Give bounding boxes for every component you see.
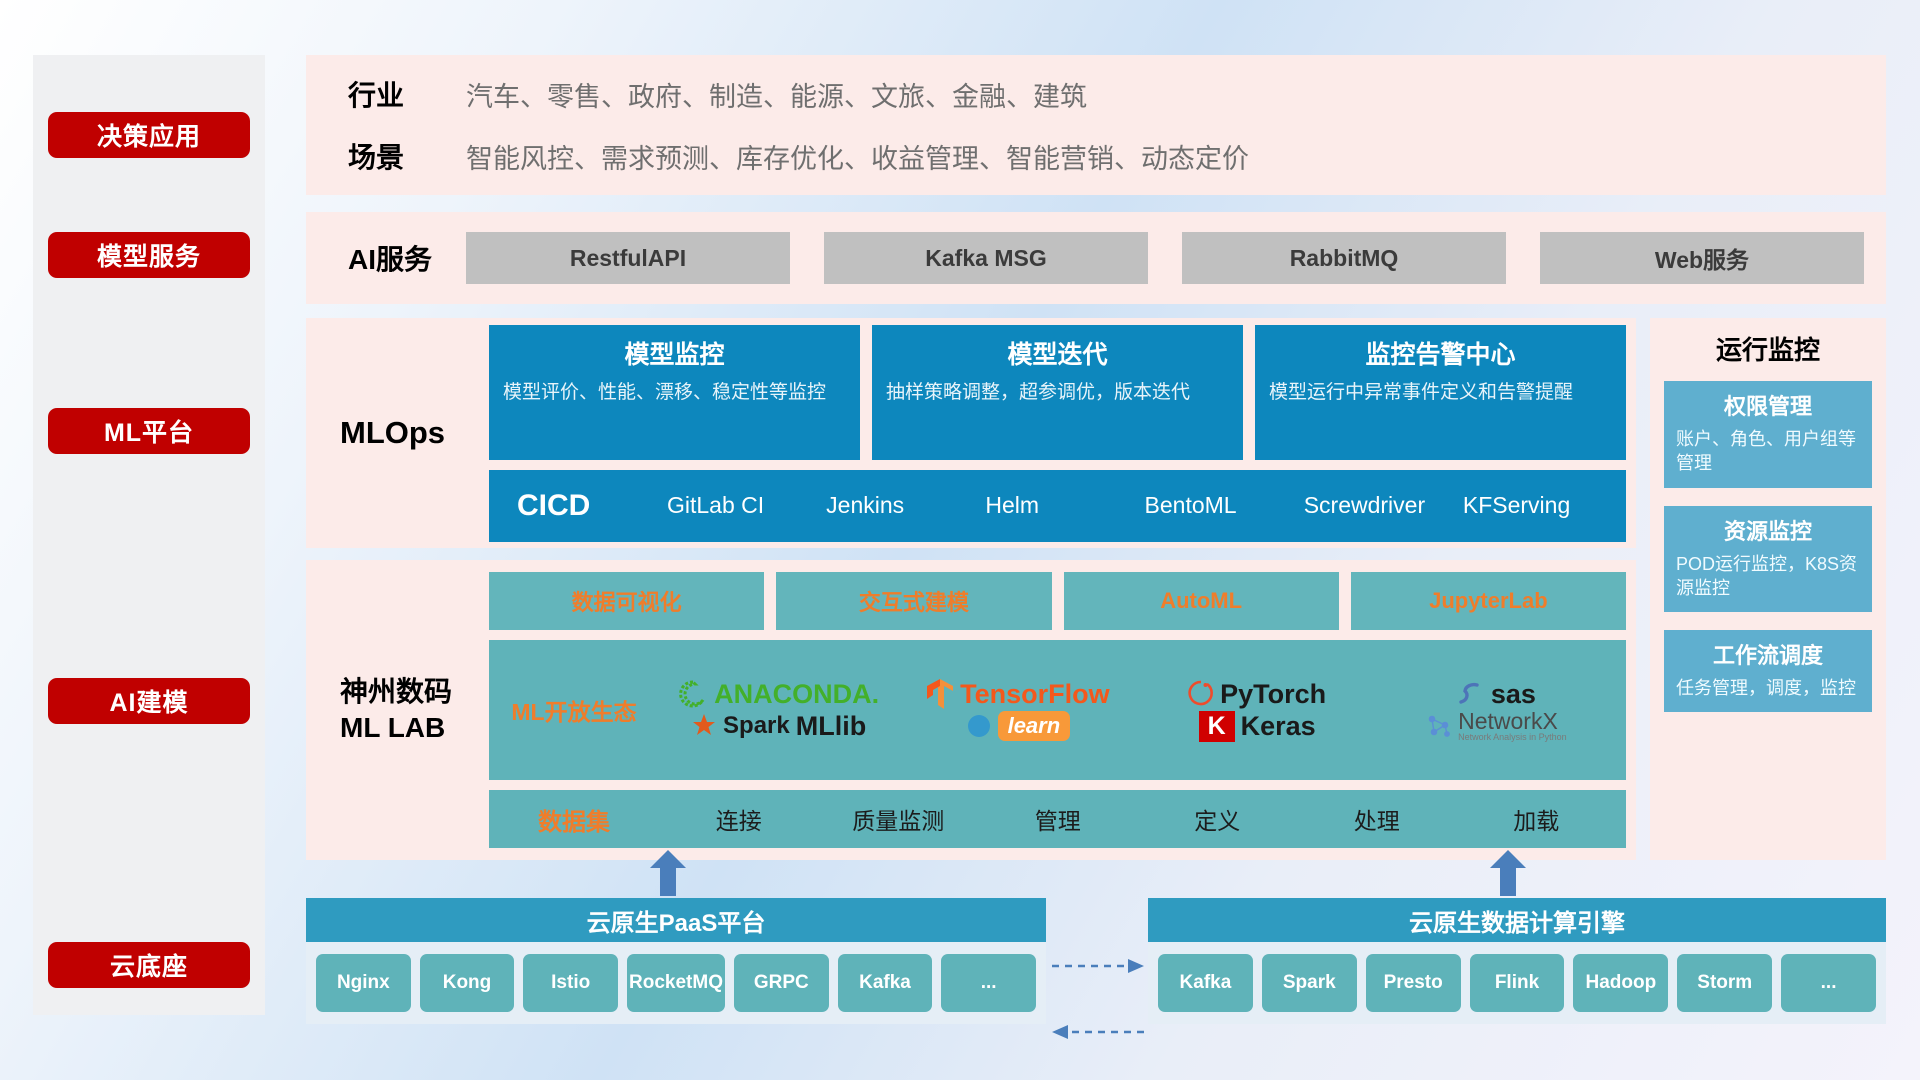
monitoring-panel-title: 运行监控 <box>1664 330 1872 367</box>
scikit-learn-logo: learn <box>966 711 1071 741</box>
mllib-wordmark: MLlib <box>796 711 866 742</box>
tensorflow-icon <box>926 678 954 710</box>
cicd-item-helm[interactable]: Helm <box>985 493 1144 518</box>
cloud-chip-nginx[interactable]: Nginx <box>316 954 411 1012</box>
ml-ecosystem-label: ML开放生态 <box>489 693 659 727</box>
ecosystem-logo-grid: ANACONDA. TensorFlow PyTorch <box>659 678 1626 742</box>
scenario-label: 场景 <box>306 136 466 176</box>
dataset-item-process[interactable]: 处理 <box>1297 802 1457 836</box>
cicd-item-bentoml[interactable]: BentoML <box>1145 493 1304 518</box>
ai-service-chip-kafka-msg[interactable]: Kafka MSG <box>824 232 1148 284</box>
scikit-learn-wordmark: learn <box>998 711 1071 741</box>
mlops-band: MLOps 模型监控 模型评价、性能、漂移、稳定性等监控 模型迭代 抽样策略调整… <box>306 318 1636 548</box>
scenario-value: 智能风控、需求预测、库存优化、收益管理、智能营销、动态定价 <box>466 137 1249 176</box>
dataset-item-define[interactable]: 定义 <box>1138 802 1298 836</box>
ml-lab-label: 神州数码 ML LAB <box>306 674 489 747</box>
scikit-circle-icon <box>966 713 992 739</box>
cloud-chip-kafka[interactable]: Kafka <box>838 954 933 1012</box>
industry-value: 汽车、零售、政府、制造、能源、文旅、金融、建筑 <box>466 75 1087 114</box>
ml-lab-band: 神州数码 ML LAB 数据可视化 交互式建模 AutoML JupyterLa… <box>306 560 1636 860</box>
cicd-item-group: GitLab CI Jenkins Helm BentoML Screwdriv… <box>667 493 1622 518</box>
mlops-card-model-monitoring[interactable]: 模型监控 模型评价、性能、漂移、稳定性等监控 <box>489 325 860 460</box>
cloud-chip-hadoop[interactable]: Hadoop <box>1573 954 1668 1012</box>
cloud-paas-chip-group: Nginx Kong Istio RocketMQ GRPC Kafka ... <box>306 942 1046 1024</box>
ai-service-chip-rabbitmq[interactable]: RabbitMQ <box>1182 232 1506 284</box>
networkx-logo: NetworkX Network Analysis in Python <box>1426 710 1567 742</box>
ai-services-chip-group: RestfulAPI Kafka MSG RabbitMQ Web服务 <box>466 232 1886 284</box>
stage-chip-ai-modeling[interactable]: AI建模 <box>48 678 250 724</box>
lab-tool-group: 数据可视化 交互式建模 AutoML JupyterLab <box>489 572 1626 630</box>
dataset-item-manage[interactable]: 管理 <box>978 802 1138 836</box>
monitoring-panel: 运行监控 权限管理 账户、角色、用户组等管理 资源监控 POD运行监控，K8S资… <box>1650 318 1886 860</box>
cloud-chip-presto[interactable]: Presto <box>1366 954 1461 1012</box>
monitoring-card-workflow[interactable]: 工作流调度 任务管理，调度，监控 <box>1664 630 1872 712</box>
ml-ecosystem-panel: ML开放生态 ANACONDA. TensorFlow <box>489 640 1626 780</box>
lab-tool-data-visualization[interactable]: 数据可视化 <box>489 572 764 630</box>
cicd-item-gitlab-ci[interactable]: GitLab CI <box>667 493 826 518</box>
card-desc: 模型运行中异常事件定义和告警提醒 <box>1269 380 1612 406</box>
up-arrow-right-icon <box>1490 850 1526 896</box>
dataset-item-group: 连接 质量监测 管理 定义 处理 加载 <box>659 802 1626 836</box>
card-title: 工作流调度 <box>1676 638 1860 670</box>
sas-icon <box>1457 680 1485 708</box>
lab-tool-jupyterlab[interactable]: JupyterLab <box>1351 572 1626 630</box>
cicd-item-jenkins[interactable]: Jenkins <box>826 493 985 518</box>
pytorch-icon <box>1188 679 1214 709</box>
stage-chip-decision-app[interactable]: 决策应用 <box>48 112 250 158</box>
cloud-chip-grpc[interactable]: GRPC <box>734 954 829 1012</box>
networkx-icon <box>1426 713 1452 739</box>
cloud-chip-more-left[interactable]: ... <box>941 954 1036 1012</box>
ai-service-chip-restfulapi[interactable]: RestfulAPI <box>466 232 790 284</box>
cloud-compute-title: 云原生数据计算引擎 <box>1148 898 1886 942</box>
card-desc: 模型评价、性能、漂移、稳定性等监控 <box>503 380 846 406</box>
cloud-paas-title: 云原生PaaS平台 <box>306 898 1046 942</box>
card-title: 模型监控 <box>503 335 846 371</box>
card-desc: 任务管理，调度，监控 <box>1676 676 1860 700</box>
ai-services-label: AI服务 <box>306 238 466 278</box>
pytorch-wordmark: PyTorch <box>1220 679 1326 710</box>
monitoring-card-resource[interactable]: 资源监控 POD运行监控，K8S资源监控 <box>1664 506 1872 613</box>
keras-wordmark: Keras <box>1241 711 1316 742</box>
lab-tool-interactive-modeling[interactable]: 交互式建模 <box>776 572 1051 630</box>
card-desc: 抽样策略调整，超参调优，版本迭代 <box>886 380 1229 406</box>
sas-logo: sas <box>1457 679 1536 710</box>
cloud-chip-kafka-right[interactable]: Kafka <box>1158 954 1253 1012</box>
cicd-item-screwdriver[interactable]: Screwdriver <box>1304 493 1463 518</box>
lab-tool-automl[interactable]: AutoML <box>1064 572 1339 630</box>
keras-mark-icon: K <box>1199 711 1235 742</box>
stage-rail <box>33 55 265 1015</box>
ml-lab-label-line1: 神州数码 <box>340 674 489 710</box>
mlops-card-alert-center[interactable]: 监控告警中心 模型运行中异常事件定义和告警提醒 <box>1255 325 1626 460</box>
stage-chip-model-service[interactable]: 模型服务 <box>48 232 250 278</box>
spark-mllib-logo: Spark MLlib <box>691 711 866 742</box>
ml-lab-label-line2: ML LAB <box>340 710 489 746</box>
cicd-item-kfserving[interactable]: KFServing <box>1463 493 1622 518</box>
dataset-item-quality-monitor[interactable]: 质量监测 <box>819 802 979 836</box>
cloud-chip-spark[interactable]: Spark <box>1262 954 1357 1012</box>
card-title: 模型迭代 <box>886 335 1229 371</box>
card-desc: 账户、角色、用户组等管理 <box>1676 427 1860 476</box>
sas-wordmark: sas <box>1491 679 1536 710</box>
cloud-chip-istio[interactable]: Istio <box>523 954 618 1012</box>
cicd-bar: CICD GitLab CI Jenkins Helm BentoML Scre… <box>489 470 1626 542</box>
stage-chip-cloud-base[interactable]: 云底座 <box>48 942 250 988</box>
cicd-title: CICD <box>517 489 667 523</box>
networkx-wordmark: NetworkX <box>1458 710 1567 733</box>
scenario-row: 场景 智能风控、需求预测、库存优化、收益管理、智能营销、动态定价 <box>306 136 1886 176</box>
cloud-chip-kong[interactable]: Kong <box>420 954 515 1012</box>
ai-service-chip-web-service[interactable]: Web服务 <box>1540 232 1864 284</box>
card-desc: POD运行监控，K8S资源监控 <box>1676 552 1860 601</box>
cloud-chip-more-right[interactable]: ... <box>1781 954 1876 1012</box>
industry-label: 行业 <box>306 74 466 114</box>
dataset-bar: 数据集 连接 质量监测 管理 定义 处理 加载 <box>489 790 1626 848</box>
stage-chip-ml-platform[interactable]: ML平台 <box>48 408 250 454</box>
tensorflow-wordmark: TensorFlow <box>960 679 1110 710</box>
dataset-item-load[interactable]: 加载 <box>1457 802 1617 836</box>
keras-logo: K Keras <box>1199 711 1316 742</box>
cloud-compute-chip-group: Kafka Spark Presto Flink Hadoop Storm ..… <box>1148 942 1886 1024</box>
cloud-data-compute-engine: 云原生数据计算引擎 Kafka Spark Presto Flink Hadoo… <box>1148 898 1886 1024</box>
dataset-label: 数据集 <box>489 802 659 837</box>
cloud-paas-platform: 云原生PaaS平台 Nginx Kong Istio RocketMQ GRPC… <box>306 898 1046 1024</box>
spark-wordmark: Spark <box>723 712 790 740</box>
card-title: 权限管理 <box>1676 389 1860 421</box>
networkx-tagline: Network Analysis in Python <box>1458 733 1567 742</box>
dataset-item-connect[interactable]: 连接 <box>659 802 819 836</box>
up-arrow-left-icon <box>650 850 686 896</box>
mlops-label: MLOps <box>306 415 489 451</box>
tensorflow-logo: TensorFlow <box>926 678 1110 710</box>
mlops-card-group: 模型监控 模型评价、性能、漂移、稳定性等监控 模型迭代 抽样策略调整，超参调优，… <box>489 325 1626 460</box>
card-title: 监控告警中心 <box>1269 335 1612 371</box>
pytorch-logo: PyTorch <box>1188 679 1326 710</box>
cloud-chip-storm[interactable]: Storm <box>1677 954 1772 1012</box>
industry-row: 行业 汽车、零售、政府、制造、能源、文旅、金融、建筑 <box>306 74 1886 114</box>
anaconda-wordmark: ANACONDA. <box>714 679 879 710</box>
applications-band: 行业 汽车、零售、政府、制造、能源、文旅、金融、建筑 场景 智能风控、需求预测、… <box>306 55 1886 195</box>
ai-services-band: AI服务 RestfulAPI Kafka MSG RabbitMQ Web服务 <box>306 212 1886 304</box>
spark-icon <box>691 713 717 739</box>
mlops-card-model-iteration[interactable]: 模型迭代 抽样策略调整，超参调优，版本迭代 <box>872 325 1243 460</box>
cloud-link-arrows <box>1050 938 1146 1058</box>
card-title: 资源监控 <box>1676 514 1860 546</box>
cloud-chip-rocketmq[interactable]: RocketMQ <box>627 954 725 1012</box>
anaconda-logo: ANACONDA. <box>678 679 879 710</box>
monitoring-card-permission[interactable]: 权限管理 账户、角色、用户组等管理 <box>1664 381 1872 488</box>
cloud-chip-flink[interactable]: Flink <box>1470 954 1565 1012</box>
anaconda-icon <box>678 679 708 709</box>
